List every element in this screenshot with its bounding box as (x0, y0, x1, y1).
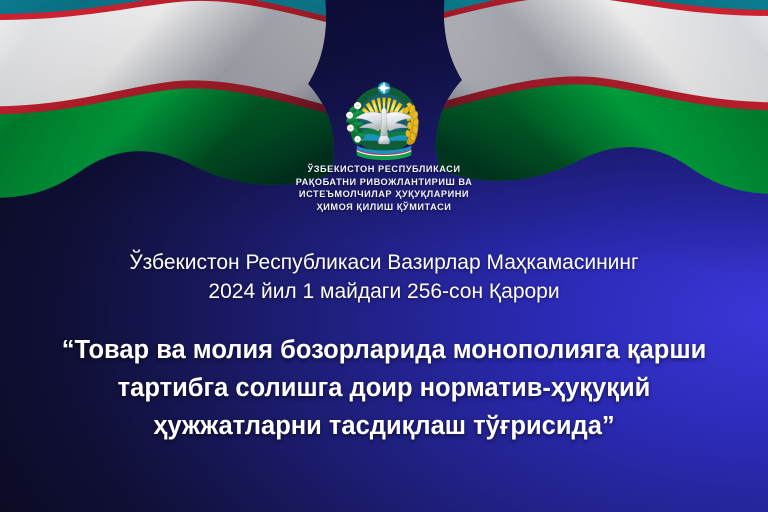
page-title: “Товар ва молия бозорларида монополияга … (0, 331, 768, 445)
decree-line-2: 2024 йил 1 майдаги 256-сон Қарори (0, 277, 768, 306)
title-line-3: ҳужжатларни тасдиқлаш тўғрисида” (0, 407, 768, 445)
committee-name: ЎЗБЕКИСТОН РЕСПУБЛИКАСИ РАҚОБАТНИ РИВОЖЛ… (0, 163, 768, 213)
uzbekistan-state-emblem-icon (336, 72, 432, 168)
committee-line-4: ҲИМОЯ ҚИЛИШ ҚЎМИТАСИ (0, 201, 768, 214)
title-line-2: тартибга солишга доир норматив-ҳуқуқий (0, 369, 768, 407)
committee-line-3: ИСТЕЪМОЛЧИЛАР ҲУҚУҚЛАРИНИ (0, 188, 768, 201)
title-line-1: “Товар ва молия бозорларида монополияга … (0, 331, 768, 369)
decree-reference: Ўзбекистон Республикаси Вазирлар Маҳкама… (0, 248, 768, 306)
poster-canvas: ЎЗБЕКИСТОН РЕСПУБЛИКАСИ РАҚОБАТНИ РИВОЖЛ… (0, 0, 768, 512)
decree-line-1: Ўзбекистон Республикаси Вазирлар Маҳкама… (0, 248, 768, 277)
committee-line-2: РАҚОБАТНИ РИВОЖЛАНТИРИШ ВА (0, 176, 768, 189)
committee-line-1: ЎЗБЕКИСТОН РЕСПУБЛИКАСИ (0, 163, 768, 176)
